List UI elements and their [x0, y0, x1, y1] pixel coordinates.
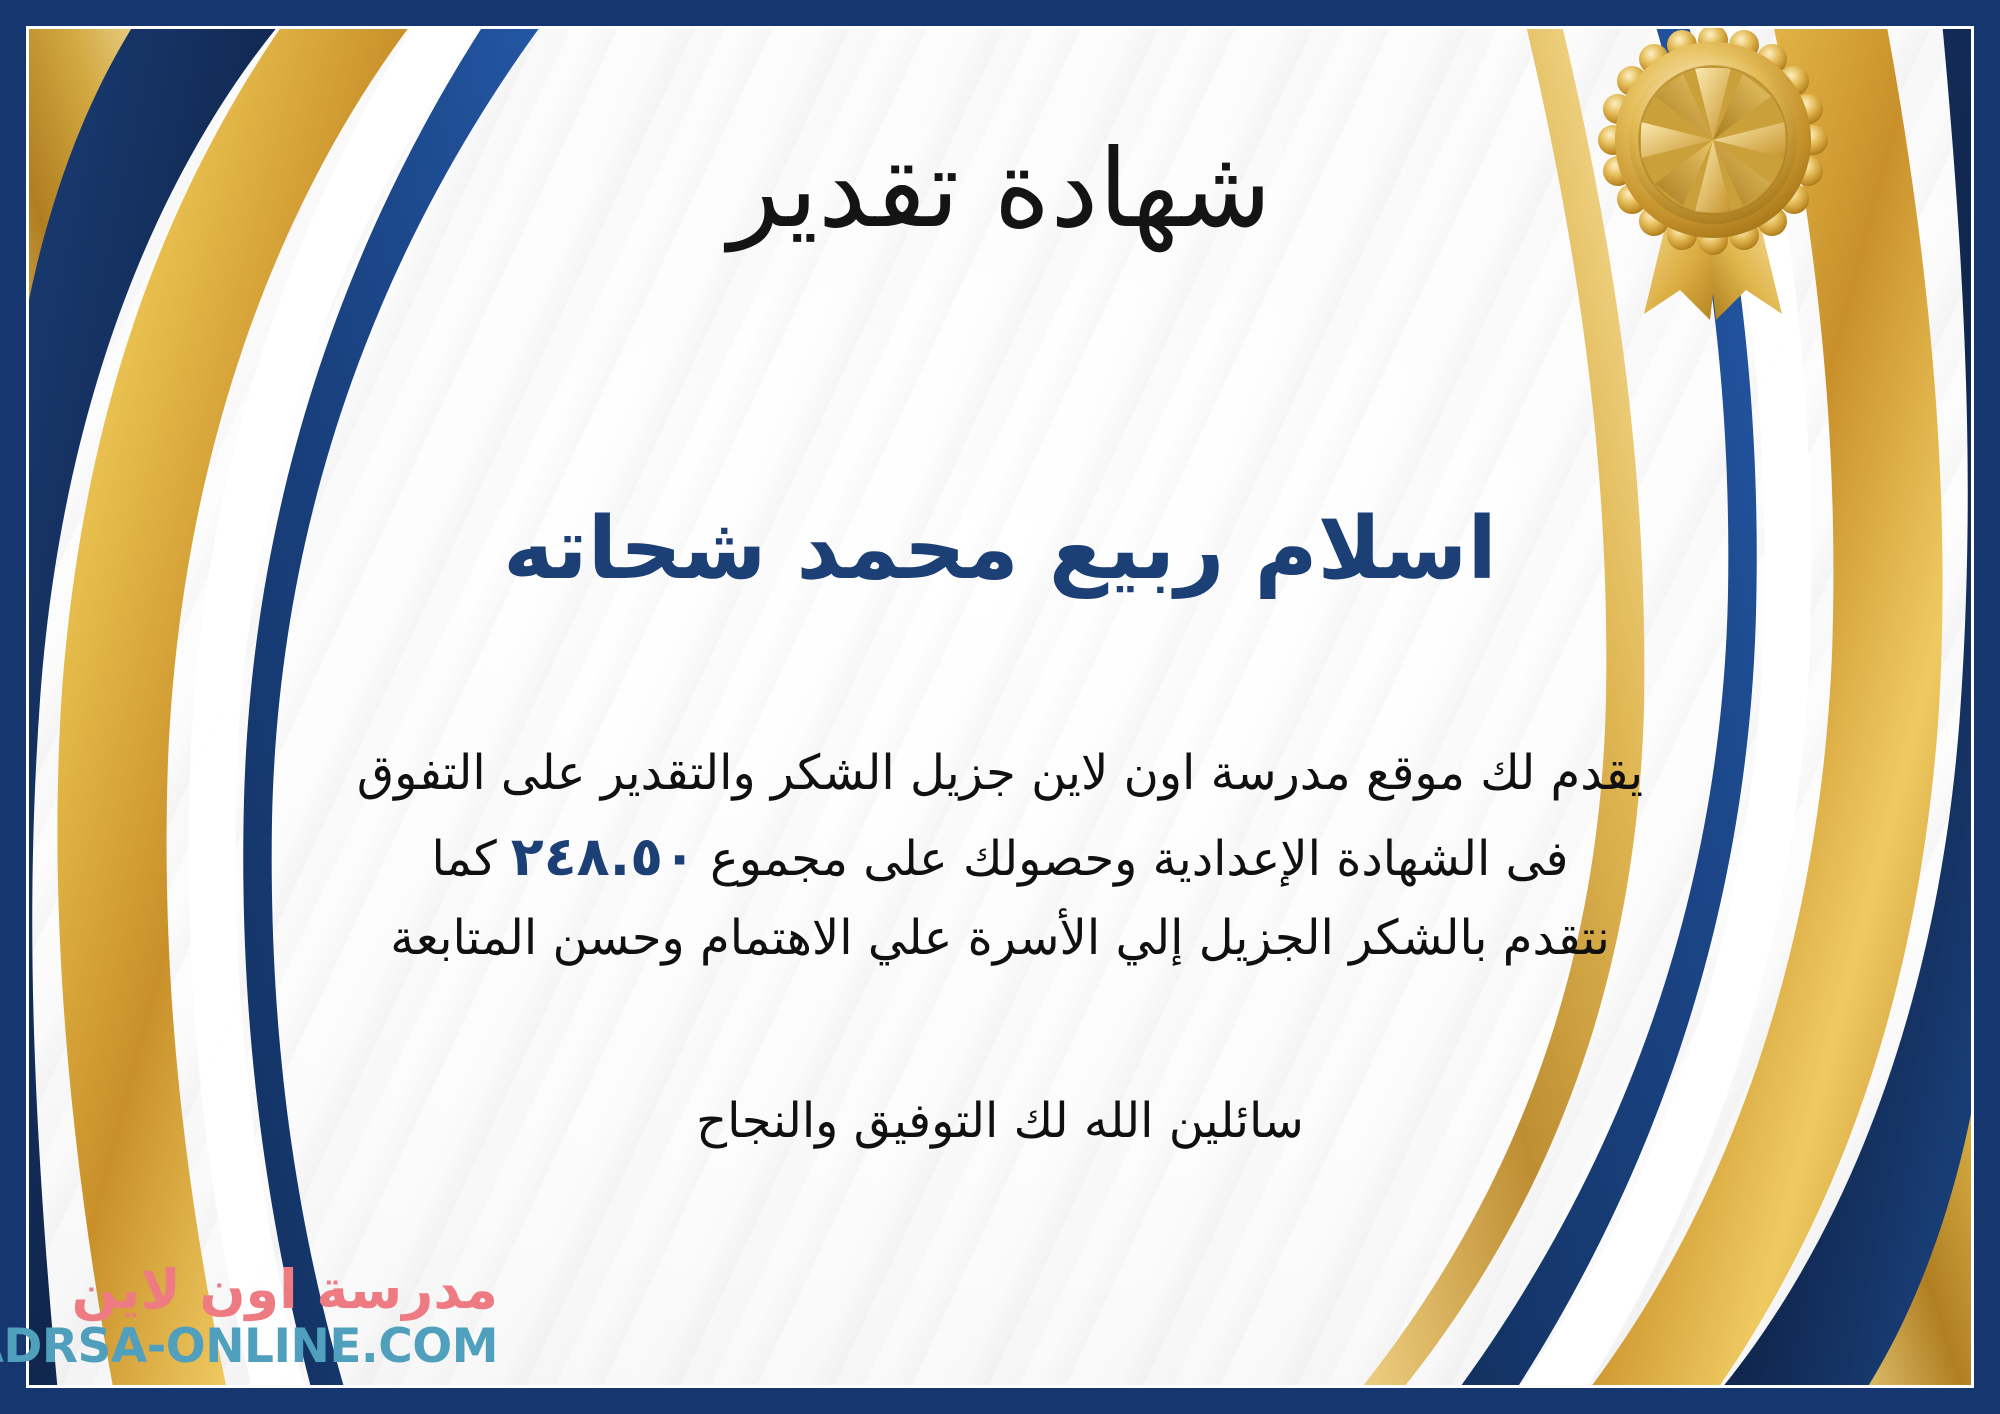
certificate-canvas: شهادة تقدير اسلام ربيع محمد شحاته يقدم ل…: [0, 0, 2000, 1414]
closing-wish: سائلين الله لك التوفيق والنجاح: [0, 1085, 2000, 1157]
body-line-2-suffix: كما: [432, 831, 497, 887]
body-line-2: فى الشهادة الإعدادية وحصولك على مجموع٢٤٨…: [60, 813, 1940, 900]
body-line-3: نتقدم بالشكر الجزيل إلي الأسرة علي الاهت…: [60, 900, 1940, 978]
student-name: اسلام ربيع محمد شحاته: [0, 498, 2000, 601]
certificate-body: يقدم لك موقع مدرسة اون لاين جزيل الشكر و…: [60, 735, 1940, 978]
page-title: شهادة تقدير: [0, 128, 2000, 252]
body-line-2-prefix: فى الشهادة الإعدادية وحصولك على مجموع: [710, 831, 1568, 887]
brand-name-arabic: مدرسة اون لاين: [72, 1263, 498, 1317]
certificate-content: شهادة تقدير اسلام ربيع محمد شحاته يقدم ل…: [0, 0, 2000, 1414]
total-score-value: ٢٤٨.٥٠: [497, 825, 710, 888]
brand-logo[interactable]: مدرسة اون لاين MADRSA-ONLINE.COM: [28, 1246, 498, 1386]
brand-website-url: MADRSA-ONLINE.COM: [0, 1323, 498, 1370]
brand-logo-text: مدرسة اون لاين MADRSA-ONLINE.COM: [0, 1263, 498, 1370]
body-line-1: يقدم لك موقع مدرسة اون لاين جزيل الشكر و…: [60, 735, 1940, 813]
